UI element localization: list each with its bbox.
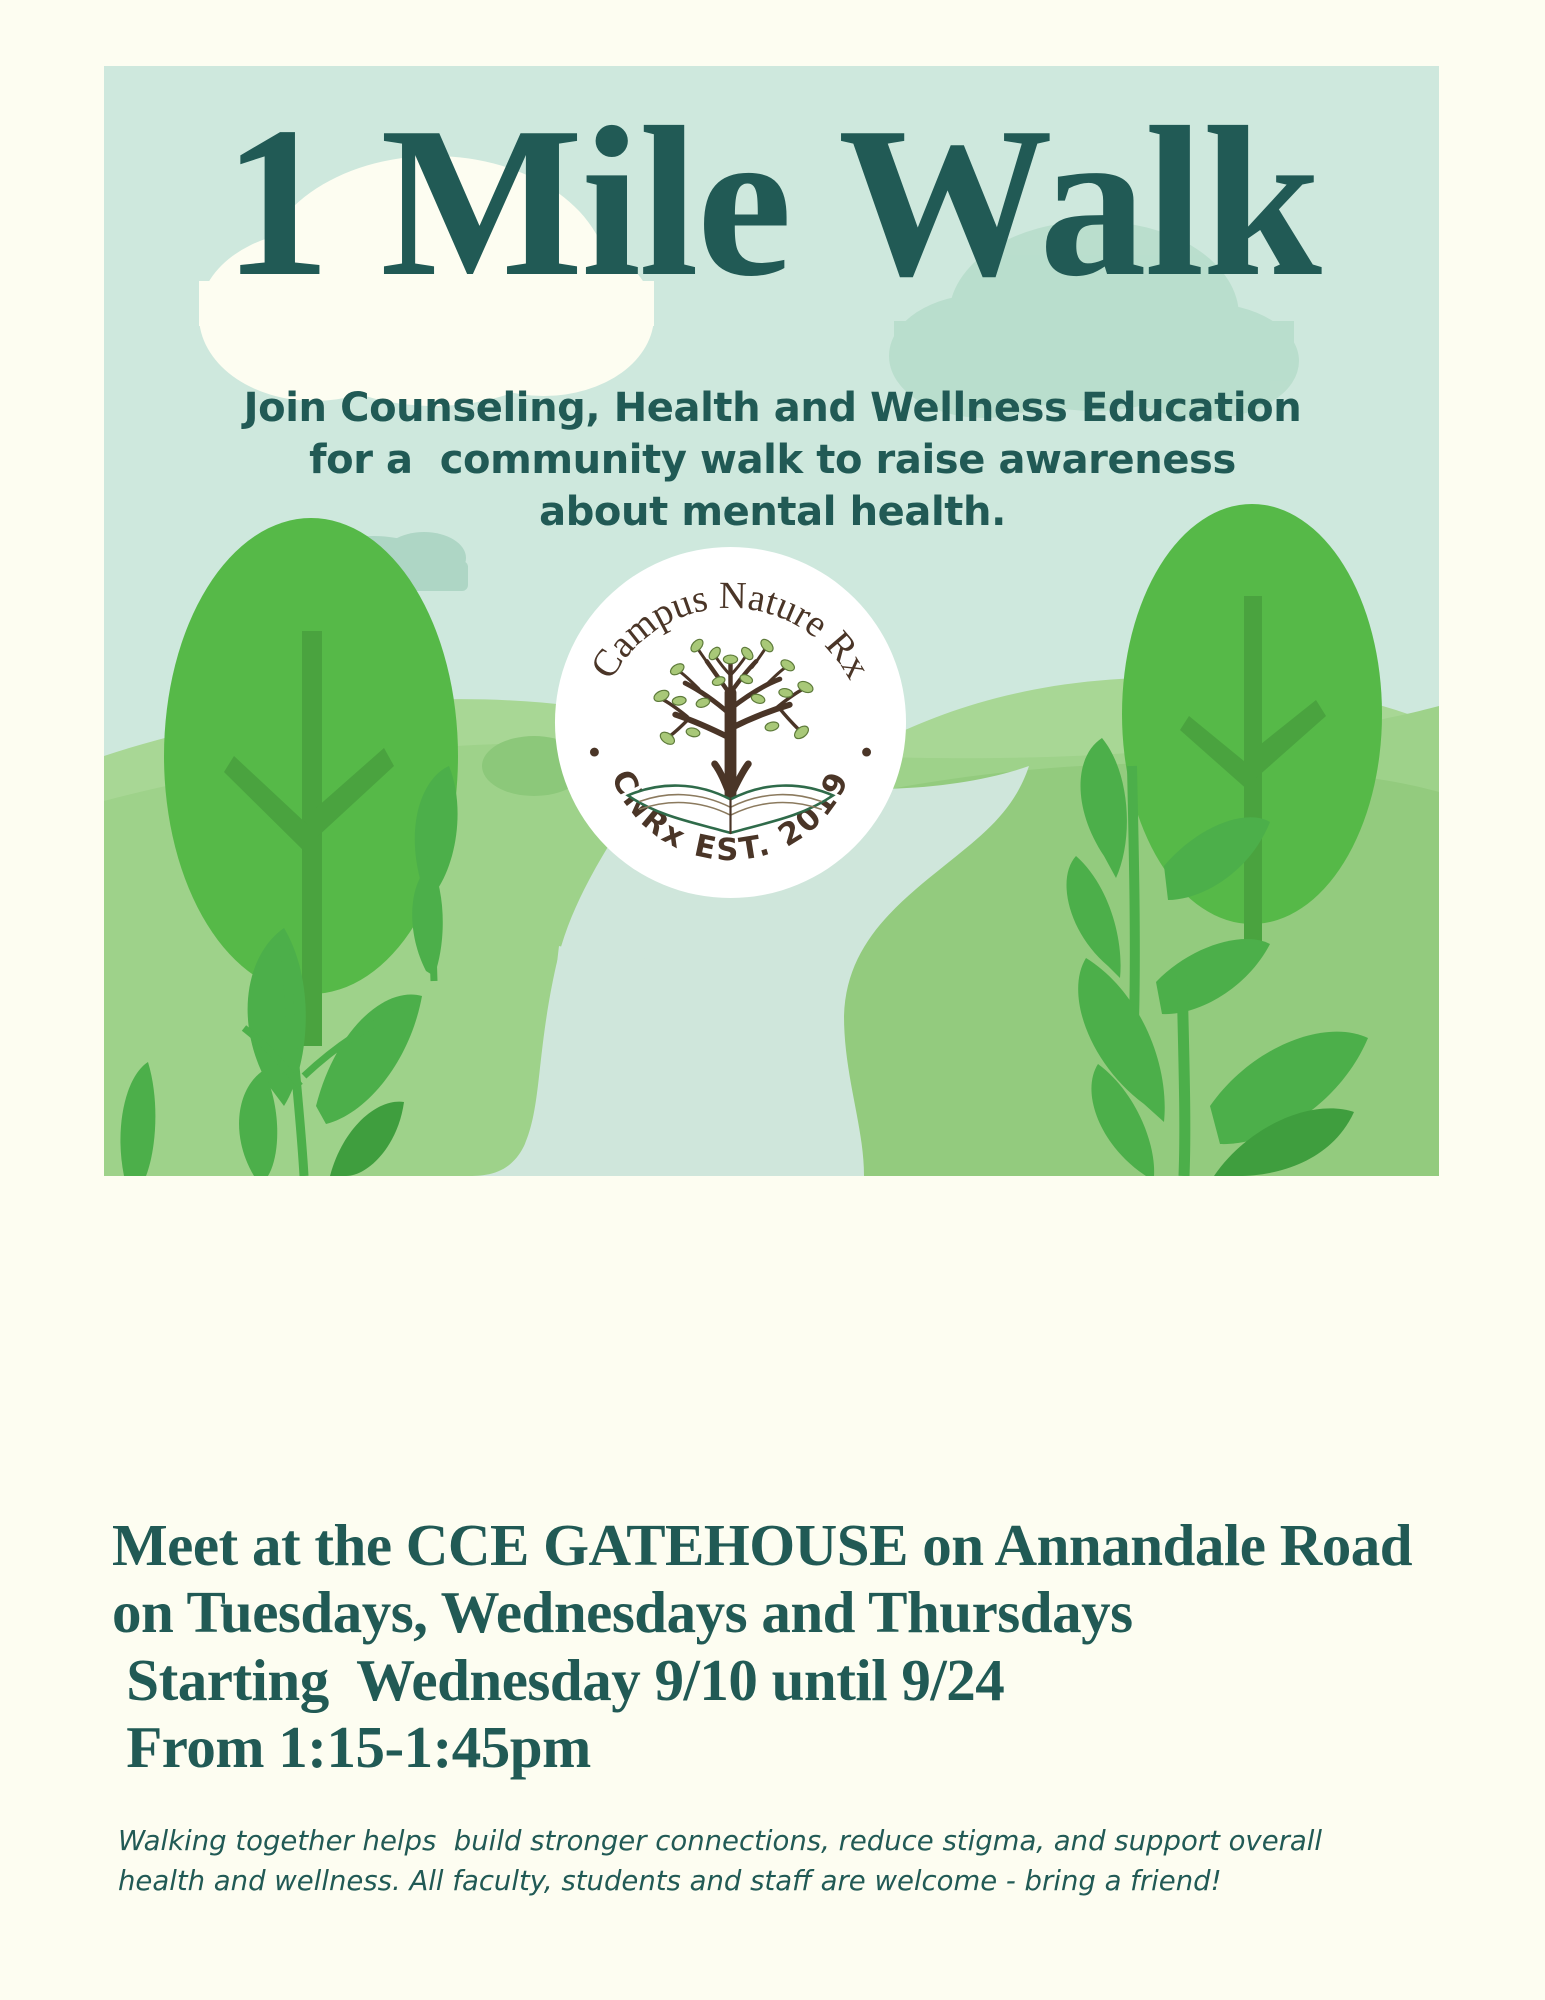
details-line-days: on Tuesdays, Wednesdays and Thursdays	[112, 1579, 1452, 1646]
logo-dot-right	[862, 748, 871, 757]
logo-dot-left	[590, 748, 599, 757]
details-line-dates: Starting Wednesday 9/10 until 9/24	[112, 1647, 1452, 1714]
note-line-1: Walking together helps build stronger co…	[118, 1822, 1458, 1862]
subtitle-line-1: Join Counseling, Health and Wellness Edu…	[150, 382, 1395, 434]
details-line-time: From 1:15-1:45pm	[112, 1714, 1452, 1781]
details-line-location: Meet at the CCE GATEHOUSE on Annandale R…	[112, 1512, 1452, 1579]
event-details-block: Meet at the CCE GATEHOUSE on Annandale R…	[112, 1512, 1452, 1781]
poster-canvas: 1 Mile Walk Join Counseling, Health and …	[0, 0, 1545, 2000]
subtitle-block: Join Counseling, Health and Wellness Edu…	[150, 382, 1395, 538]
subtitle-line-2: for a community walk to raise awareness	[150, 434, 1395, 486]
logo-svg: Campus Nature Rx CNRx EST. 2019	[553, 545, 908, 900]
page-title: 1 Mile Walk	[104, 100, 1439, 304]
note-line-2: health and wellness. All faculty, studen…	[118, 1862, 1458, 1902]
subtitle-line-3: about mental health.	[150, 486, 1395, 538]
closing-note-block: Walking together helps build stronger co…	[118, 1822, 1458, 1902]
campus-nature-rx-logo: Campus Nature Rx CNRx EST. 2019	[553, 545, 908, 900]
